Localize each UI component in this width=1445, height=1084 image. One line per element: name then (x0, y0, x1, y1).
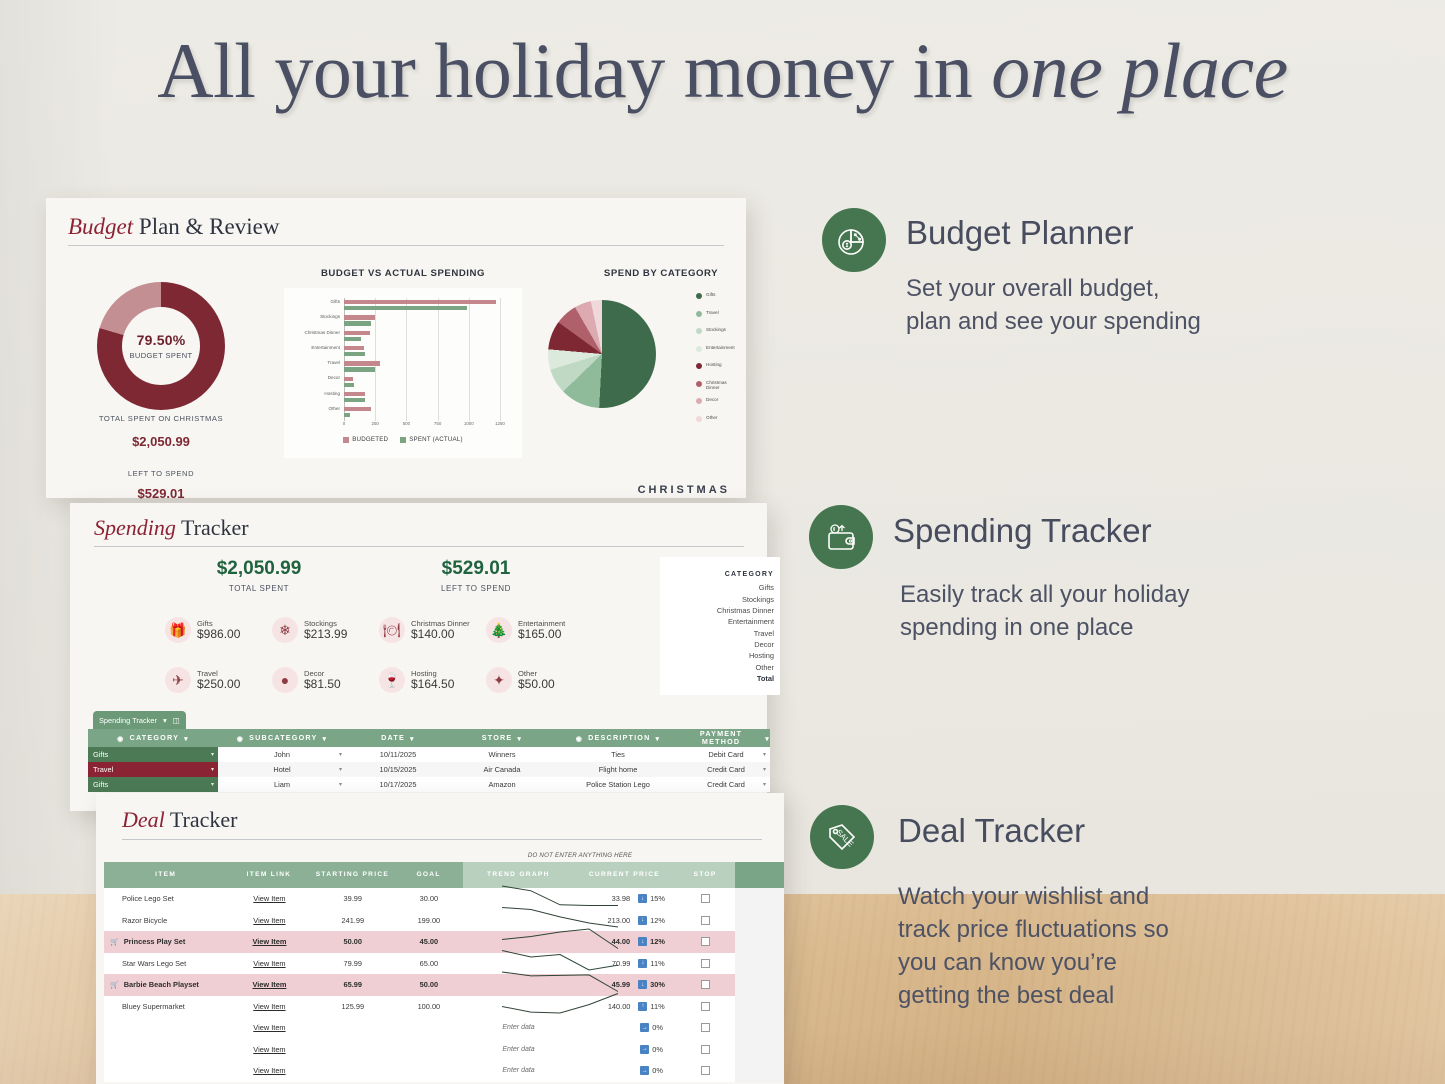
bar-chart-legend: BUDGETEDSPENT (ACTUAL) (284, 436, 522, 443)
arrow-down-icon: ↓ (638, 916, 647, 925)
category-cell[interactable]: Travel▾ (88, 762, 218, 777)
x-tick-label: 750 (434, 421, 441, 426)
bar-row-label: Travel (327, 360, 340, 365)
legend-dot (696, 293, 702, 299)
bar-row-label: Gifts (331, 299, 340, 304)
price-change-badge: ↓30% (638, 980, 665, 989)
deal-item-name: Barbie Beach Playset (124, 980, 199, 989)
store-cell[interactable]: Winners (450, 747, 554, 762)
budget-title-script: Budget (68, 214, 133, 239)
deal-column-overflow (735, 862, 784, 888)
goal-cell[interactable] (394, 1060, 463, 1082)
current-price-value: 140.00 (584, 1002, 630, 1011)
pie-legend-item: Other (696, 415, 754, 433)
deal-row-overflow (735, 910, 784, 932)
legend-label: Other (706, 415, 718, 421)
view-item-link[interactable]: View Item (253, 1045, 285, 1054)
starting-price-cell[interactable] (311, 1060, 394, 1082)
view-item-link[interactable]: View Item (253, 959, 285, 968)
sheet-column-date[interactable]: DATE▾ (346, 729, 450, 747)
category-panel-row: Christmas Dinner (660, 605, 780, 616)
total-spent-value: $2,050.99 (61, 434, 261, 449)
sheet-data-row: Travel▾Hotel▾10/15/2025Air CanadaFlight … (88, 762, 770, 777)
category-panel-row: Decor (660, 639, 780, 650)
spending-category-item: 🎁Gifts$986.00 (165, 617, 240, 643)
goal-cell[interactable] (394, 1017, 463, 1039)
x-tick-label: 0 (343, 421, 345, 426)
pie-legend-item: Entertainment (696, 345, 754, 363)
bar-budgeted (344, 346, 364, 350)
legend-label: BUDGETED (352, 436, 388, 443)
category-panel-rows: GiftsStockingsChristmas DinnerEntertainm… (660, 582, 780, 684)
bar-spent (344, 413, 350, 417)
legend-dot (696, 381, 702, 387)
bar-chart-row: Hosting (344, 390, 500, 405)
chevron-down-icon[interactable]: ▾ (765, 734, 770, 743)
filter-icon[interactable]: ◉ (117, 734, 124, 743)
enter-data-placeholder: Enter data (502, 1046, 534, 1053)
page-title: All your holiday money in one place (0, 30, 1445, 112)
current-price-value: 45.99 (584, 980, 630, 989)
bar-row-label: Decor (328, 375, 340, 380)
dinner-plate-icon: 🍽 (379, 617, 405, 643)
sparkle-icon: ✦ (486, 667, 512, 693)
current-price-value: 44.00 (584, 937, 630, 946)
deal-row-overflow (735, 996, 784, 1018)
deal-row-overflow (735, 888, 784, 910)
price-change-percent: 11% (650, 1002, 664, 1011)
spending-category-item: ❄Stockings$213.99 (272, 617, 347, 643)
starting-price-cell[interactable]: 39.99 (311, 888, 394, 910)
spending-category-item: 🍽Christmas Dinner$140.00 (379, 617, 470, 643)
spending-title-script: Spending (94, 515, 176, 540)
ornament-icon: ● (272, 667, 298, 693)
deal-column-goal: GOAL (394, 862, 463, 888)
column-label: CATEGORY (130, 734, 180, 742)
deal-title-divider (122, 839, 762, 840)
goal-cell[interactable] (394, 1039, 463, 1061)
legend-label: Travel (706, 310, 719, 316)
legend-dot (696, 363, 702, 369)
goal-cell[interactable]: 100.00 (394, 996, 463, 1018)
pie-legend-item: Hosting (696, 362, 754, 380)
stop-checkbox[interactable] (701, 1066, 710, 1075)
left-to-spend-value: $529.01 (61, 486, 261, 501)
bar-chart-row: Travel (344, 359, 500, 374)
spending-kpi-left: $529.01 LEFT TO SPEND (376, 558, 576, 593)
enter-data-placeholder: Enter data (502, 1024, 534, 1031)
budget-donut-chart: 79.50% BUDGET SPENT (97, 282, 225, 410)
legend-item: SPENT (ACTUAL) (400, 436, 463, 443)
chevron-down-icon[interactable]: ▾ (211, 751, 214, 758)
column-label: PAYMENT METHOD (682, 730, 760, 746)
gift-icon: 🎁 (165, 617, 191, 643)
column-label: DESCRIPTION (588, 734, 650, 742)
deal-table-row: Bluey SupermarketView Item125.99100.0014… (104, 996, 784, 1018)
arrow-right-icon: → (640, 1045, 649, 1054)
stop-checkbox[interactable] (701, 894, 710, 903)
pie-legend-item: Stockings (696, 327, 754, 345)
goal-cell[interactable]: 45.00 (394, 931, 463, 953)
spending-category-table-panel: CATEGORY GiftsStockingsChristmas DinnerE… (660, 557, 780, 695)
budget-watermark: CHRISTMAS (638, 484, 730, 496)
payment-cell[interactable]: Credit Card▾ (682, 777, 770, 792)
sheet-icon[interactable]: ◫ (173, 716, 180, 725)
current-price-cell: →0% (574, 1039, 675, 1061)
bar-budgeted (344, 361, 380, 365)
view-item-link[interactable]: View Item (252, 980, 286, 989)
sheet-column-category[interactable]: ◉CATEGORY▾ (88, 729, 218, 747)
deal-table-row: Star Wars Lego SetView Item79.9965.0070.… (104, 953, 784, 975)
deal-title-script: Deal (122, 807, 165, 832)
legend-label: Stockings (706, 327, 726, 333)
deal-item-name: Bluey Supermarket (122, 1002, 185, 1011)
spending-sheet-header: ◉CATEGORY▾◉SUBCATEGORY▾DATE▾STORE▾◉DESCR… (88, 729, 770, 747)
deal-column-current-price: CURRENT PRICE (574, 862, 676, 888)
spending-left-label: LEFT TO SPEND (376, 584, 576, 593)
stop-checkbox[interactable] (701, 1002, 710, 1011)
stop-checkbox[interactable] (701, 980, 710, 989)
deal-item-name: Razor Bicycle (122, 916, 167, 925)
payment-cell[interactable]: Debit Card▾ (682, 747, 770, 762)
arrow-down-icon: ↓ (638, 937, 647, 946)
budget-percent-label: BUDGET SPENT (129, 351, 192, 360)
category-cell[interactable]: Gifts▾ (88, 747, 218, 762)
category-panel-row: Stockings (660, 593, 780, 604)
chevron-down-icon[interactable]: ▾ (339, 766, 342, 773)
spending-left-value: $529.01 (376, 558, 576, 580)
current-price-cell: 33.98↓15% (574, 888, 675, 910)
trend-graph-cell: Enter data (463, 1017, 574, 1039)
bar-spent (344, 383, 354, 387)
x-tick-label: 1000 (464, 421, 474, 426)
legend-label: Christmas Dinner (706, 380, 727, 391)
date-cell[interactable]: 10/11/2025 (346, 747, 450, 762)
view-item-link[interactable]: View Item (253, 1066, 285, 1075)
bar-budgeted (344, 392, 365, 396)
legend-dot (696, 311, 702, 317)
current-price-cell: 45.99↓30% (574, 974, 675, 996)
bar-chart-title: BUDGET VS ACTUAL SPENDING (283, 268, 523, 279)
legend-dot (696, 416, 702, 422)
goal-cell[interactable]: 65.00 (394, 953, 463, 975)
description-cell[interactable]: Flight home (554, 762, 682, 777)
price-change-badge: →0% (640, 1023, 663, 1032)
sale-tag-icon: SALE (810, 805, 874, 869)
deal-column-starting-price: STARTING PRICE (311, 862, 394, 888)
deal-table-header: ITEMITEM LINKSTARTING PRICEGOALTREND GRA… (104, 862, 784, 888)
spending-total-label: TOTAL SPENT (159, 584, 359, 593)
spending-category-item: ●Decor$81.50 (272, 667, 341, 693)
bar-spent (344, 321, 371, 325)
filter-icon[interactable]: ◉ (576, 734, 583, 743)
bar-chart-row: Christmas Dinner (344, 329, 500, 344)
subcategory-cell[interactable]: Hotel▾ (218, 762, 346, 777)
deal-table-row: View ItemEnter data→0% (104, 1060, 784, 1082)
left-to-spend-label: LEFT TO SPEND (61, 469, 261, 478)
budget-percent: 79.50% (137, 332, 186, 348)
goal-cell[interactable]: 30.00 (394, 888, 463, 910)
starting-price-cell[interactable] (311, 1017, 394, 1039)
bar-budgeted (344, 331, 370, 335)
current-price-value: 33.98 (584, 894, 630, 903)
enter-data-placeholder: Enter data (502, 1067, 534, 1074)
category-panel-row: Other (660, 662, 780, 673)
spending-kpi-total: $2,050.99 TOTAL SPENT (159, 558, 359, 593)
starting-price-cell[interactable]: 125.99 (311, 996, 394, 1018)
pie-legend-item: Gifts (696, 292, 754, 310)
deal-column-trend-graph: TREND GRAPH (463, 862, 574, 888)
pie-chart-legend: GiftsTravelStockingsEntertainmentHosting… (696, 292, 754, 432)
chevron-down-icon[interactable]: ▾ (322, 734, 327, 743)
sheet-column-subcategory[interactable]: ◉SUBCATEGORY▾ (218, 729, 346, 747)
price-change-percent: 12% (650, 937, 665, 946)
chevron-down-icon[interactable]: ▾ (211, 781, 214, 788)
spending-category-item: 🍷Hosting$164.50 (379, 667, 454, 693)
category-panel-row: Entertainment (660, 616, 780, 627)
chevron-down-icon[interactable]: ▾ (763, 751, 766, 758)
chevron-down-icon[interactable]: ▾ (339, 751, 342, 758)
stop-checkbox[interactable] (701, 1023, 710, 1032)
bar-row-label: Stockings (320, 314, 340, 319)
price-change-badge: ↓15% (638, 894, 665, 903)
current-price-cell: 70.99↓11% (574, 953, 675, 975)
bar-spent (344, 367, 375, 371)
legend-label: Decor (706, 397, 718, 403)
view-item-link[interactable]: View Item (253, 894, 285, 903)
bar-spent (344, 398, 365, 402)
stop-checkbox[interactable] (701, 1045, 710, 1054)
legend-dot (696, 346, 702, 352)
deal-item-name: Star Wars Lego Set (122, 959, 186, 968)
category-amount: $165.00 (518, 627, 565, 641)
deal-card-title: Deal Tracker (122, 807, 237, 833)
current-price-cell: →0% (574, 1060, 675, 1082)
headline-plain: All your holiday money in (157, 27, 991, 114)
description-cell[interactable]: Police Station Lego (554, 777, 682, 792)
bar-chart-x-axis: 025050075010001250 (344, 421, 500, 431)
x-tick-label: 500 (403, 421, 410, 426)
spending-category-item: ✦Other$50.00 (486, 667, 555, 693)
category-amount: $164.50 (411, 677, 454, 691)
bar-row-label: Christmas Dinner (305, 330, 340, 335)
deal-row-overflow (735, 974, 784, 996)
stop-checkbox[interactable] (701, 959, 710, 968)
chevron-down-icon[interactable]: ▾ (763, 766, 766, 773)
trend-graph-cell (463, 910, 574, 932)
category-cell[interactable]: Gifts▾ (88, 777, 218, 792)
trend-graph-cell (463, 888, 574, 910)
spending-title-divider (94, 546, 744, 547)
price-change-badge: ↓12% (638, 937, 665, 946)
snowflake-icon: ❄ (272, 617, 298, 643)
category-amount: $213.99 (304, 627, 347, 641)
category-amount: $250.00 (197, 677, 240, 691)
trend-graph-cell (463, 931, 574, 953)
deal-row-overflow (735, 953, 784, 975)
price-change-badge: →0% (640, 1045, 663, 1054)
subcategory-cell[interactable]: Liam▾ (218, 777, 346, 792)
category-amount: $986.00 (197, 627, 240, 641)
arrow-down-icon: ↓ (638, 894, 647, 903)
stop-checkbox[interactable] (701, 916, 710, 925)
goal-cell[interactable]: 50.00 (394, 974, 463, 996)
wallet-money-icon (809, 505, 873, 569)
category-amount: $140.00 (411, 627, 470, 641)
sheet-data-row: Gifts▾Liam▾10/17/2025AmazonPolice Statio… (88, 777, 770, 792)
legend-dot (696, 398, 702, 404)
price-change-badge: →0% (640, 1066, 663, 1075)
chevron-down-icon[interactable]: ▾ (410, 734, 415, 743)
date-cell[interactable]: 10/17/2025 (346, 777, 450, 792)
view-item-link[interactable]: View Item (253, 1023, 285, 1032)
bar-chart-row: Other (344, 405, 500, 420)
donut-ring: 79.50% BUDGET SPENT (97, 282, 225, 410)
pie-chart-title: SPEND BY CATEGORY (556, 268, 766, 279)
spending-category-item: 🎄Entertainment$165.00 (486, 617, 565, 643)
payment-cell[interactable]: Credit Card▾ (682, 762, 770, 777)
current-price-value: 213.00 (584, 916, 630, 925)
category-amount: $81.50 (304, 677, 341, 691)
spending-title-rest: Tracker (176, 515, 249, 540)
deal-column-stop: STOP (675, 862, 735, 888)
spending-total-value: $2,050.99 (159, 558, 359, 580)
feature-body-deal-tracker: Watch your wishlist and track price fluc… (898, 880, 1428, 1012)
bar-budgeted (344, 377, 353, 381)
legend-label: SPENT (ACTUAL) (409, 436, 463, 443)
feature-body-budget-planner: Set your overall budget, plan and see yo… (906, 272, 1426, 338)
starting-price-cell[interactable]: 241.99 (311, 910, 394, 932)
budget-vs-actual-bar-chart: GiftsStockingsChristmas DinnerEntertainm… (284, 288, 522, 458)
store-cell[interactable]: Air Canada (450, 762, 554, 777)
deal-title-rest: Tracker (165, 807, 238, 832)
category-panel-row: Travel (660, 628, 780, 639)
feature-title-deal-tracker: Deal Tracker (898, 812, 1085, 850)
store-cell[interactable]: Amazon (450, 777, 554, 792)
bar-row-label: Other (329, 406, 341, 411)
deal-column-item: ITEM (104, 862, 227, 888)
category-panel-header: CATEGORY (660, 557, 780, 582)
feature-body-spending-tracker: Easily track all your holiday spending i… (900, 578, 1420, 644)
trend-graph-cell: Enter data (463, 1039, 574, 1061)
column-label: SUBCATEGORY (249, 734, 317, 742)
arrow-right-icon: → (640, 1066, 649, 1075)
current-price-cell: 140.00↑11% (574, 996, 675, 1018)
bar-chart-row: Decor (344, 374, 500, 389)
pie-legend-item: Decor (696, 397, 754, 415)
chevron-down-icon[interactable]: ▾ (339, 781, 342, 788)
legend-swatch (400, 437, 406, 443)
chevron-down-icon[interactable]: ▾ (656, 734, 661, 743)
wine-glasses-icon: 🍷 (379, 667, 405, 693)
deal-item-name: Police Lego Set (122, 894, 174, 903)
chevron-down-icon[interactable]: ▾ (163, 716, 167, 725)
price-change-badge: ↑11% (638, 1002, 664, 1011)
price-change-badge: ↓11% (638, 959, 664, 968)
trend-graph-cell (463, 974, 574, 996)
feature-title-budget-planner: Budget Planner (906, 214, 1134, 252)
spend-by-category-pie-chart: GiftsTravelStockingsEntertainmentHosting… (548, 300, 698, 410)
deal-row-overflow (735, 1060, 784, 1082)
starting-price-cell[interactable]: 79.99 (311, 953, 394, 975)
arrow-down-icon: ↓ (638, 980, 647, 989)
chevron-down-icon[interactable]: ▾ (763, 781, 766, 788)
view-item-link[interactable]: View Item (253, 916, 285, 925)
deal-table-row: Police Lego SetView Item39.9930.0033.98↓… (104, 888, 784, 910)
price-change-percent: 30% (650, 980, 665, 989)
legend-swatch (343, 437, 349, 443)
x-tick-label: 250 (372, 421, 379, 426)
sheet-column-store[interactable]: STORE▾ (450, 729, 554, 747)
deal-table-row: View ItemEnter data→0% (104, 1017, 784, 1039)
spending-card-title: Spending Tracker (94, 515, 249, 541)
starting-price-cell[interactable]: 50.00 (311, 931, 394, 953)
cart-icon: 🛒 (110, 981, 119, 989)
legend-dot (696, 328, 702, 334)
current-price-cell: 213.00↓12% (574, 910, 675, 932)
total-spent-label: TOTAL SPENT ON CHRISTMAS (61, 414, 261, 423)
view-item-link[interactable]: View Item (253, 1002, 285, 1011)
view-item-link[interactable]: View Item (252, 937, 286, 946)
category-panel-total: Total (660, 673, 780, 684)
chevron-down-icon[interactable]: ▾ (211, 766, 214, 773)
current-price-cell: →0% (574, 1017, 675, 1039)
starting-price-cell[interactable]: 65.99 (311, 974, 394, 996)
goal-cell[interactable]: 199.00 (394, 910, 463, 932)
sheet-column-description[interactable]: ◉DESCRIPTION▾ (554, 729, 682, 747)
subcategory-cell[interactable]: John▾ (218, 747, 346, 762)
description-cell[interactable]: Ties (554, 747, 682, 762)
column-label: DATE (381, 734, 405, 742)
arrow-down-icon: ↓ (638, 959, 647, 968)
chevron-down-icon[interactable]: ▾ (517, 734, 522, 743)
bar-budgeted (344, 315, 375, 319)
tree-icon: 🎄 (486, 617, 512, 643)
x-tick-label: 1250 (495, 421, 505, 426)
bar-chart-row: Stockings (344, 313, 500, 328)
arrow-right-icon: → (640, 1023, 649, 1032)
date-cell[interactable]: 10/15/2025 (346, 762, 450, 777)
deal-table-row: 🛒Barbie Beach PlaysetView Item65.9950.00… (104, 974, 784, 996)
legend-label: Entertainment (706, 345, 735, 351)
spending-category-item: ✈Travel$250.00 (165, 667, 240, 693)
bar-spent (344, 306, 467, 310)
sheet-tab-label: Spending Tracker (99, 716, 157, 725)
price-change-percent: 12% (650, 916, 665, 925)
bar-row-label: Entertainment (311, 345, 340, 350)
category-panel-row: Gifts (660, 582, 780, 593)
bar-chart-row: Entertainment (344, 344, 500, 359)
current-price-value: 70.99 (584, 959, 630, 968)
sheet-tab-spending-tracker[interactable]: Spending Tracker ▾ ◫ (93, 711, 186, 729)
sheet-column-payment-method[interactable]: PAYMENT METHOD▾ (682, 729, 770, 747)
legend-label: Gifts (706, 292, 715, 298)
deal-table-row: 🛒Princess Play SetView Item50.0045.0044.… (104, 931, 784, 953)
pie-chart-dollar-icon (822, 208, 886, 272)
category-panel-row: Hosting (660, 650, 780, 661)
pie-slices (548, 300, 656, 408)
stop-checkbox[interactable] (701, 937, 710, 946)
trend-graph-cell: Enter data (463, 1060, 574, 1082)
pie-legend-item: Christmas Dinner (696, 380, 754, 398)
chevron-down-icon[interactable]: ▾ (184, 734, 189, 743)
filter-icon[interactable]: ◉ (237, 734, 244, 743)
price-change-percent: 11% (650, 959, 664, 968)
starting-price-cell[interactable] (311, 1039, 394, 1061)
deal-column-item-link: ITEM LINK (227, 862, 310, 888)
feature-title-spending-tracker: Spending Tracker (893, 512, 1152, 550)
category-amount: $50.00 (518, 677, 555, 691)
